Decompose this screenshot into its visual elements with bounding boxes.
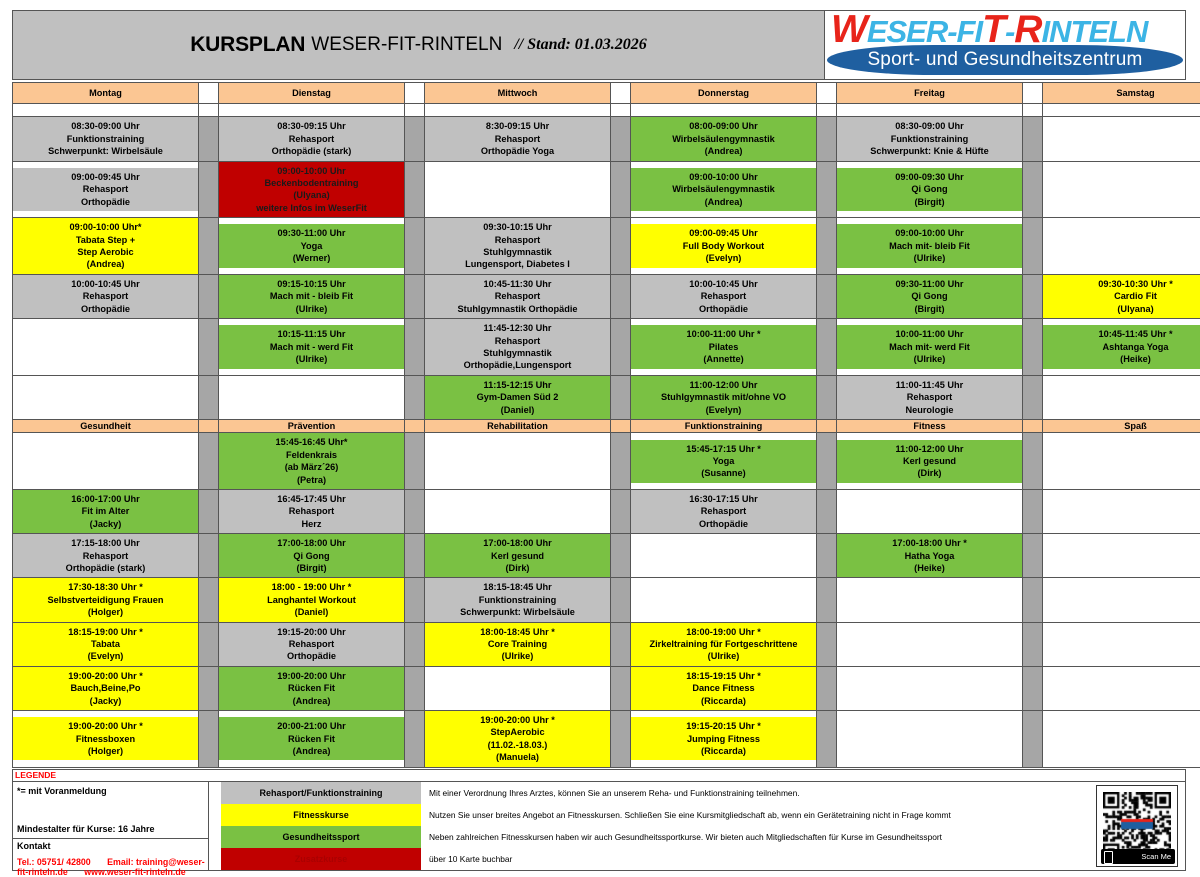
course-block	[13, 338, 198, 356]
course-block: 16:45-17:45 UhrRehasportHerz	[219, 490, 404, 533]
course-time: 08:30-09:00 Uhr	[839, 120, 1020, 132]
schedule-cell: 19:00-20:00 Uhr *Bauch,Beine,Po(Jacky)	[13, 666, 199, 710]
legend-description: Neben zahlreichen Fitnesskursen haben wi…	[429, 826, 1089, 848]
course-name: Funktionstraining	[15, 133, 196, 145]
schedule-cell: 16:45-17:45 UhrRehasportHerz	[219, 489, 405, 533]
schedule-cell: 19:00-20:00 Uhr *Fitnessboxen(Holger)	[13, 711, 199, 768]
course-block	[425, 452, 610, 470]
course-block: 08:30-09:00 UhrFunktionstrainingSchwerpu…	[13, 117, 198, 160]
divider-cell	[405, 104, 425, 117]
course-block	[631, 591, 816, 609]
schedule-cell: 11:00-11:45 UhrRehasportNeurologie	[837, 375, 1023, 419]
schedule-cell	[1043, 534, 1200, 578]
schedule-cell: 18:15-18:45 UhrFunktionstrainingSchwerpu…	[425, 578, 611, 622]
schedule-cell	[13, 319, 199, 376]
divider-cell	[13, 104, 199, 117]
company-logo: WESER-FIT-RINTELN Sport- und Gesundheits…	[825, 11, 1185, 79]
course-name: Qi Gong	[839, 290, 1020, 302]
course-name: Fitnessboxen	[15, 733, 196, 745]
schedule-cell: 09:00-09:30 UhrQi Gong(Birgit)	[837, 161, 1023, 218]
legend-voranmeldung: *= mit Voranmeldung	[17, 786, 107, 796]
column-spacer	[817, 319, 837, 376]
schedule-row: 08:30-09:00 UhrFunktionstrainingSchwerpu…	[13, 117, 1200, 161]
course-name: Rehasport	[839, 391, 1020, 403]
column-spacer	[1023, 161, 1043, 218]
course-block: 10:00-10:45 UhrRehasportOrthopädie	[631, 275, 816, 318]
course-time: 17:00-18:00 Uhr	[221, 537, 402, 549]
course-name: Fit im Alter	[15, 505, 196, 517]
column-spacer	[817, 117, 837, 161]
course-block: 09:30-10:15 UhrRehasportStuhlgymnastikLu…	[425, 218, 610, 274]
course-detail: (Daniel)	[427, 404, 608, 416]
divider-cell	[631, 104, 817, 117]
course-detail: (Andrea)	[15, 258, 196, 270]
course-name: Mach mit- werd Fit	[839, 341, 1020, 353]
course-time: 09:30-10:30 Uhr *	[1045, 278, 1200, 290]
course-time: 09:00-10:00 Uhr	[221, 165, 402, 177]
course-detail: (Ulyana)	[221, 189, 402, 201]
schedule-cell	[837, 578, 1023, 622]
course-name: Jumping Fitness	[633, 733, 814, 745]
course-block: 15:45-16:45 Uhr*Feldenkrais(ab März´26)(…	[219, 433, 404, 489]
schedule-cell	[1043, 433, 1200, 490]
course-block	[425, 502, 610, 520]
column-spacer	[405, 622, 425, 666]
course-block: 09:00-09:30 UhrQi Gong(Birgit)	[837, 168, 1022, 211]
course-block: 19:15-20:00 UhrRehasportOrthopädie	[219, 623, 404, 666]
column-spacer	[817, 666, 837, 710]
schedule-row: 17:30-18:30 Uhr *Selbstverteidigung Frau…	[13, 578, 1200, 622]
course-detail: (Riccarda)	[633, 745, 814, 757]
qr-code[interactable]: Scan Me	[1096, 785, 1178, 867]
course-name: Hatha Yoga	[839, 550, 1020, 562]
day-header-samstag: Samstag	[1043, 83, 1200, 104]
logo-wordmark: WESER-FIT-RINTELN	[831, 13, 1181, 47]
schedule-cell: 08:30-09:15 UhrRehasportOrthopädie (star…	[219, 117, 405, 161]
course-time: 18:00 - 19:00 Uhr *	[221, 581, 402, 593]
column-spacer	[199, 489, 219, 533]
course-block	[1043, 452, 1200, 470]
course-block	[837, 730, 1022, 748]
column-spacer	[1023, 578, 1043, 622]
column-spacer	[405, 666, 425, 710]
schedule-cell: 08:30-09:00 UhrFunktionstrainingSchwerpu…	[837, 117, 1023, 161]
section-label: Spaß	[1043, 419, 1200, 432]
course-block	[1043, 237, 1200, 255]
course-time: 11:00-12:00 Uhr	[633, 379, 814, 391]
column-spacer	[817, 375, 837, 419]
day-header-donnerstag: Donnerstag	[631, 83, 817, 104]
divider-cell	[425, 104, 611, 117]
course-detail: (Evelyn)	[633, 404, 814, 416]
course-block	[837, 502, 1022, 520]
column-spacer	[405, 433, 425, 490]
section-label: Funktionstraining	[631, 419, 817, 432]
schedule-cell: 10:00-11:00 UhrMach mit- werd Fit(Ulrike…	[837, 319, 1023, 376]
course-time: 09:30-11:00 Uhr	[839, 278, 1020, 290]
course-block	[837, 591, 1022, 609]
course-detail: (Manuela)	[427, 751, 608, 763]
course-detail: (Andrea)	[633, 196, 814, 208]
course-time: 16:00-17:00 Uhr	[15, 493, 196, 505]
course-name: Rehasport	[221, 505, 402, 517]
column-spacer	[611, 319, 631, 376]
course-block: 09:00-10:00 UhrMach mit- bleib Fit(Ulrik…	[837, 224, 1022, 267]
course-block: 10:00-10:45 UhrRehasportOrthopädie	[13, 275, 198, 318]
schedule-row: 10:15-11:15 UhrMach mit - werd Fit(Ulrik…	[13, 319, 1200, 376]
schedule-row: 19:00-20:00 Uhr *Fitnessboxen(Holger) 20…	[13, 711, 1200, 768]
section-label-gap	[817, 419, 837, 432]
column-spacer	[199, 375, 219, 419]
course-name: Rehasport	[15, 290, 196, 302]
course-detail: Lungensport, Diabetes I	[427, 258, 608, 270]
course-detail: Orthopädie	[15, 196, 196, 208]
column-spacer	[817, 218, 837, 275]
title-company: WESER-FIT-RINTELN	[311, 34, 502, 56]
column-spacer	[199, 117, 219, 161]
course-detail: Neurologie	[839, 404, 1020, 416]
course-name: Qi Gong	[221, 550, 402, 562]
course-detail: (Jacky)	[15, 695, 196, 707]
schedule-cell: 19:00-20:00 Uhr *StepAerobic(11.02.-18.0…	[425, 711, 611, 768]
divider-cell	[837, 104, 1023, 117]
column-spacer	[1023, 489, 1043, 533]
column-spacer	[611, 117, 631, 161]
schedule-cell: 17:00-18:00 UhrKerl gesund(Dirk)	[425, 534, 611, 578]
column-spacer	[199, 274, 219, 318]
scan-me-badge: Scan Me	[1101, 849, 1175, 864]
column-spacer	[611, 433, 631, 490]
course-detail: Schwerpunkt: Knie & Hüfte	[839, 145, 1020, 157]
section-label: Rehabilitation	[425, 419, 611, 432]
schedule-cell: 09:15-10:15 UhrMach mit - bleib Fit(Ulri…	[219, 274, 405, 318]
course-name: Funktionstraining	[839, 133, 1020, 145]
course-name: Stuhlgymnastik mit/ohne VO	[633, 391, 814, 403]
course-detail: Orthopädie	[221, 650, 402, 662]
course-detail: (Evelyn)	[15, 650, 196, 662]
legend-swatch: Gesundheitssport	[221, 826, 421, 848]
course-time: 16:45-17:45 Uhr	[221, 493, 402, 505]
course-block: 08:00-09:00 UhrWirbelsäulengymnastik(And…	[631, 117, 816, 160]
column-spacer	[611, 489, 631, 533]
column-spacer	[611, 622, 631, 666]
schedule-row: 11:15-12:15 UhrGym-Damen Süd 2(Daniel) 1…	[13, 375, 1200, 419]
schedule-cell: 08:00-09:00 UhrWirbelsäulengymnastik(And…	[631, 117, 817, 161]
schedule-cell	[837, 666, 1023, 710]
course-detail: Orthopädie	[633, 518, 814, 530]
schedule-cell: 09:00-09:45 UhrRehasportOrthopädie	[13, 161, 199, 218]
column-spacer	[405, 161, 425, 218]
course-block	[1043, 591, 1200, 609]
schedule-cell: 09:00-10:00 Uhr*Tabata Step +Step Aerobi…	[13, 218, 199, 275]
column-spacer	[199, 711, 219, 768]
schedule-cell	[837, 622, 1023, 666]
course-block: 18:15-19:00 Uhr *Tabata(Evelyn)	[13, 623, 198, 666]
kursplan-page: KURSPLAN WESER-FIT-RINTELN // Stand: 01.…	[0, 0, 1200, 850]
course-detail: Stuhlgymnastik Orthopädie	[427, 303, 608, 315]
course-block: 10:45-11:30 UhrRehasportStuhlgymnastik O…	[425, 275, 610, 318]
course-block	[13, 388, 198, 406]
column-spacer	[611, 578, 631, 622]
column-spacer	[199, 218, 219, 275]
schedule-cell: 18:00-18:45 Uhr *Core Training(Ulrike)	[425, 622, 611, 666]
contact-phone[interactable]: Tel.: 05751/ 42800	[17, 857, 91, 867]
column-spacer	[199, 666, 219, 710]
schedule-cell	[1043, 489, 1200, 533]
course-detail: Orthopädie (stark)	[15, 562, 196, 574]
schedule-cell: 09:00-10:00 UhrWirbelsäulengymnastik(And…	[631, 161, 817, 218]
course-name: Rehasport	[427, 290, 608, 302]
course-block	[1043, 547, 1200, 565]
day-header-gap	[405, 83, 425, 104]
schedule-cell: 20:00-21:00 UhrRücken Fit(Andrea)	[219, 711, 405, 768]
course-name: Rehasport	[427, 133, 608, 145]
column-spacer	[1023, 319, 1043, 376]
legend-swatch: Fitnesskurse	[221, 804, 421, 826]
section-label-gap	[199, 419, 219, 432]
schedule-cell: 10:45-11:30 UhrRehasportStuhlgymnastik O…	[425, 274, 611, 318]
schedule-cell: 18:00 - 19:00 Uhr *Langhantel Workout(Da…	[219, 578, 405, 622]
course-name: Zirkeltraining für Fortgeschrittene	[633, 638, 814, 650]
legend-descriptions: Mit einer Verordnung Ihres Arztes, könne…	[421, 782, 1089, 870]
course-time: 19:00-20:00 Uhr *	[427, 714, 608, 726]
column-spacer	[611, 534, 631, 578]
divider-cell	[611, 104, 631, 117]
legend-description: Mit einer Verordnung Ihres Arztes, könne…	[429, 782, 1089, 804]
course-detail: (Holger)	[15, 745, 196, 757]
course-time: 19:00-20:00 Uhr	[221, 670, 402, 682]
schedule-row: 09:00-10:00 Uhr*Tabata Step +Step Aerobi…	[13, 218, 1200, 275]
course-name: Rehasport	[15, 183, 196, 195]
course-name: Kerl gesund	[427, 550, 608, 562]
column-spacer	[405, 375, 425, 419]
course-detail: (Holger)	[15, 606, 196, 618]
column-spacer	[611, 274, 631, 318]
section-label-gap	[405, 419, 425, 432]
section-label: Prävention	[219, 419, 405, 432]
schedule-cell: 09:30-10:30 Uhr *Cardio Fit(Ulyana)	[1043, 274, 1200, 318]
course-time: 09:30-10:15 Uhr	[427, 221, 608, 233]
course-detail: Schwerpunkt: Wirbelsäule	[15, 145, 196, 157]
course-time: 20:00-21:00 Uhr	[221, 720, 402, 732]
course-time: 11:00-11:45 Uhr	[839, 379, 1020, 391]
course-block: 20:00-21:00 UhrRücken Fit(Andrea)	[219, 717, 404, 760]
schedule-cell: 8:30-09:15 UhrRehasportOrthopädie Yoga	[425, 117, 611, 161]
schedule-row: 09:00-09:45 UhrRehasportOrthopädie 09:00…	[13, 161, 1200, 218]
course-detail: (Daniel)	[221, 606, 402, 618]
legend-section: LEGENDE *= mit Voranmeldung Mindestalter…	[12, 769, 1186, 871]
schedule-cell: 16:00-17:00 UhrFit im Alter(Jacky)	[13, 489, 199, 533]
title-stand: // Stand: 01.03.2026	[514, 36, 646, 54]
course-name: Funktionstraining	[427, 594, 608, 606]
phone-icon	[1104, 851, 1113, 864]
course-time: 17:15-18:00 Uhr	[15, 537, 196, 549]
course-name: Bauch,Beine,Po	[15, 682, 196, 694]
course-name: Rehasport	[427, 234, 608, 246]
schedule-cell	[1043, 161, 1200, 218]
course-detail: Schwerpunkt: Wirbelsäule	[427, 606, 608, 618]
course-name: Mach mit - bleib Fit	[221, 290, 402, 302]
course-block	[219, 388, 404, 406]
course-time: 08:30-09:15 Uhr	[221, 120, 402, 132]
schedule-cell: 11:45-12:30 UhrRehasportStuhlgymnastikOr…	[425, 319, 611, 376]
header-divider-row	[13, 104, 1200, 117]
course-detail: (11.02.-18.03.)	[427, 739, 608, 751]
course-time: 19:15-20:15 Uhr *	[633, 720, 814, 732]
course-time: 19:15-20:00 Uhr	[221, 626, 402, 638]
course-detail: (Birgit)	[839, 196, 1020, 208]
schedule-cell	[837, 489, 1023, 533]
course-name: Tabata Step +	[15, 234, 196, 246]
course-block: 17:30-18:30 Uhr *Selbstverteidigung Frau…	[13, 578, 198, 621]
course-detail: (ab März´26)	[221, 461, 402, 473]
column-spacer	[1023, 218, 1043, 275]
course-detail: (Andrea)	[633, 145, 814, 157]
divider-cell	[817, 104, 837, 117]
column-spacer	[1023, 375, 1043, 419]
course-block: 16:00-17:00 UhrFit im Alter(Jacky)	[13, 490, 198, 533]
legend-swatch: Zusatzkurse	[221, 848, 421, 870]
course-time: 10:00-11:00 Uhr *	[633, 328, 814, 340]
schedule-cell: 11:15-12:15 UhrGym-Damen Süd 2(Daniel)	[425, 375, 611, 419]
section-label-gap	[1023, 419, 1043, 432]
course-time: 10:45-11:45 Uhr *	[1045, 328, 1200, 340]
column-spacer	[199, 319, 219, 376]
schedule-cell	[1043, 117, 1200, 161]
course-block: 09:00-10:00 UhrWirbelsäulengymnastik(And…	[631, 168, 816, 211]
legend-swatch: Rehasport/Funktionstraining	[221, 782, 421, 804]
column-spacer	[199, 161, 219, 218]
course-detail: Stuhlgymnastik	[427, 246, 608, 258]
divider-cell	[199, 104, 219, 117]
course-detail: (Birgit)	[221, 562, 402, 574]
course-block: 10:15-11:15 UhrMach mit - werd Fit(Ulrik…	[219, 325, 404, 368]
day-header-gap	[817, 83, 837, 104]
schedule-cell: 17:00-18:00 Uhr *Hatha Yoga(Heike)	[837, 534, 1023, 578]
course-name: Qi Gong	[839, 183, 1020, 195]
schedule-row: 19:00-20:00 Uhr *Bauch,Beine,Po(Jacky) 1…	[13, 666, 1200, 710]
column-spacer	[1023, 117, 1043, 161]
course-block: 11:00-12:00 UhrKerl gesund(Dirk)	[837, 440, 1022, 483]
course-block: 09:00-09:45 UhrRehasportOrthopädie	[13, 168, 198, 211]
course-detail: (Petra)	[221, 474, 402, 486]
course-name: Selbstverteidigung Frauen	[15, 594, 196, 606]
course-name: Mach mit - werd Fit	[221, 341, 402, 353]
course-block	[1043, 679, 1200, 697]
day-header-gap	[199, 83, 219, 104]
schedule-cell: 17:15-18:00 UhrRehasportOrthopädie (star…	[13, 534, 199, 578]
schedule-cell: 09:00-10:00 UhrBeckenbodentraining(Ulyan…	[219, 161, 405, 218]
schedule-cell: 17:30-18:30 Uhr *Selbstverteidigung Frau…	[13, 578, 199, 622]
section-label: Fitness	[837, 419, 1023, 432]
course-detail: (Andrea)	[221, 745, 402, 757]
course-name: Rehasport	[427, 335, 608, 347]
course-name: Dance Fitness	[633, 682, 814, 694]
day-header-gap	[1023, 83, 1043, 104]
course-name: Rücken Fit	[221, 682, 402, 694]
course-block: 19:00-20:00 Uhr *Bauch,Beine,Po(Jacky)	[13, 667, 198, 710]
course-block: 17:00-18:00 UhrKerl gesund(Dirk)	[425, 534, 610, 577]
course-time: 11:45-12:30 Uhr	[427, 322, 608, 334]
course-detail: (Riccarda)	[633, 695, 814, 707]
schedule-cell: 08:30-09:00 UhrFunktionstrainingSchwerpu…	[13, 117, 199, 161]
course-block: 8:30-09:15 UhrRehasportOrthopädie Yoga	[425, 117, 610, 160]
course-name: Core Training	[427, 638, 608, 650]
column-spacer	[405, 489, 425, 533]
course-block: 18:15-18:45 UhrFunktionstrainingSchwerpu…	[425, 578, 610, 621]
column-spacer	[1023, 433, 1043, 490]
course-time: 16:30-17:15 Uhr	[633, 493, 814, 505]
schedule-cell: 10:00-11:00 Uhr *Pilates(Annette)	[631, 319, 817, 376]
course-name: Langhantel Workout	[221, 594, 402, 606]
column-spacer	[199, 578, 219, 622]
course-time: 10:00-10:45 Uhr	[633, 278, 814, 290]
schedule-cell	[13, 375, 199, 419]
course-time: 09:30-11:00 Uhr	[221, 227, 402, 239]
course-time: 09:00-09:45 Uhr	[633, 227, 814, 239]
course-block: 11:00-11:45 UhrRehasportNeurologie	[837, 376, 1022, 419]
course-name: Rehasport	[221, 133, 402, 145]
course-block	[837, 635, 1022, 653]
day-header-dienstag: Dienstag	[219, 83, 405, 104]
course-block	[1043, 730, 1200, 748]
course-time: 19:00-20:00 Uhr *	[15, 720, 196, 732]
schedule-cell: 09:00-09:45 UhrFull Body Workout(Evelyn)	[631, 218, 817, 275]
column-spacer	[817, 274, 837, 318]
course-name: Wirbelsäulengymnastik	[633, 133, 814, 145]
section-label-gap	[611, 419, 631, 432]
column-spacer	[199, 534, 219, 578]
legend-contact-row: Tel.: 05751/ 42800 Email: training@weser…	[13, 855, 208, 877]
column-spacer	[405, 711, 425, 768]
course-detail: (Dirk)	[839, 467, 1020, 479]
schedule-cell: 16:30-17:15 UhrRehasportOrthopädie	[631, 489, 817, 533]
course-block: 08:30-09:00 UhrFunktionstrainingSchwerpu…	[837, 117, 1022, 160]
course-detail: (Ulrike)	[427, 650, 608, 662]
course-name: Tabata	[15, 638, 196, 650]
course-time: 09:00-10:00 Uhr	[839, 227, 1020, 239]
course-detail: (Heike)	[839, 562, 1020, 574]
course-detail: (Ulrike)	[839, 353, 1020, 365]
day-header-mittwoch: Mittwoch	[425, 83, 611, 104]
schedule-cell: 18:15-19:15 Uhr *Dance Fitness(Riccarda)	[631, 666, 817, 710]
course-block: 16:30-17:15 UhrRehasportOrthopädie	[631, 490, 816, 533]
column-spacer	[817, 622, 837, 666]
course-detail: Orthopädie	[15, 303, 196, 315]
course-detail: Orthopädie (stark)	[221, 145, 402, 157]
schedule-cell	[1043, 666, 1200, 710]
schedule-cell	[1043, 711, 1200, 768]
course-time: 08:30-09:00 Uhr	[15, 120, 196, 132]
course-detail: (Dirk)	[427, 562, 608, 574]
course-time: 10:00-11:00 Uhr	[839, 328, 1020, 340]
course-detail: (Jacky)	[15, 518, 196, 530]
contact-website[interactable]: www.weser-fit-rinteln.de	[84, 867, 185, 877]
course-detail: (Evelyn)	[633, 252, 814, 264]
course-block: 18:00-18:45 Uhr *Core Training(Ulrike)	[425, 623, 610, 666]
schedule-cell	[219, 375, 405, 419]
legend-info-box: *= mit Voranmeldung Mindestalter für Kur…	[13, 782, 209, 870]
column-spacer	[405, 117, 425, 161]
column-spacer	[405, 578, 425, 622]
column-spacer	[817, 433, 837, 490]
day-header-gap	[611, 83, 631, 104]
column-spacer	[817, 489, 837, 533]
column-spacer	[1023, 274, 1043, 318]
course-block: 11:15-12:15 UhrGym-Damen Süd 2(Daniel)	[425, 376, 610, 419]
course-block: 09:00-09:45 UhrFull Body Workout(Evelyn)	[631, 224, 816, 267]
course-block: 10:00-11:00 Uhr *Pilates(Annette)	[631, 325, 816, 368]
